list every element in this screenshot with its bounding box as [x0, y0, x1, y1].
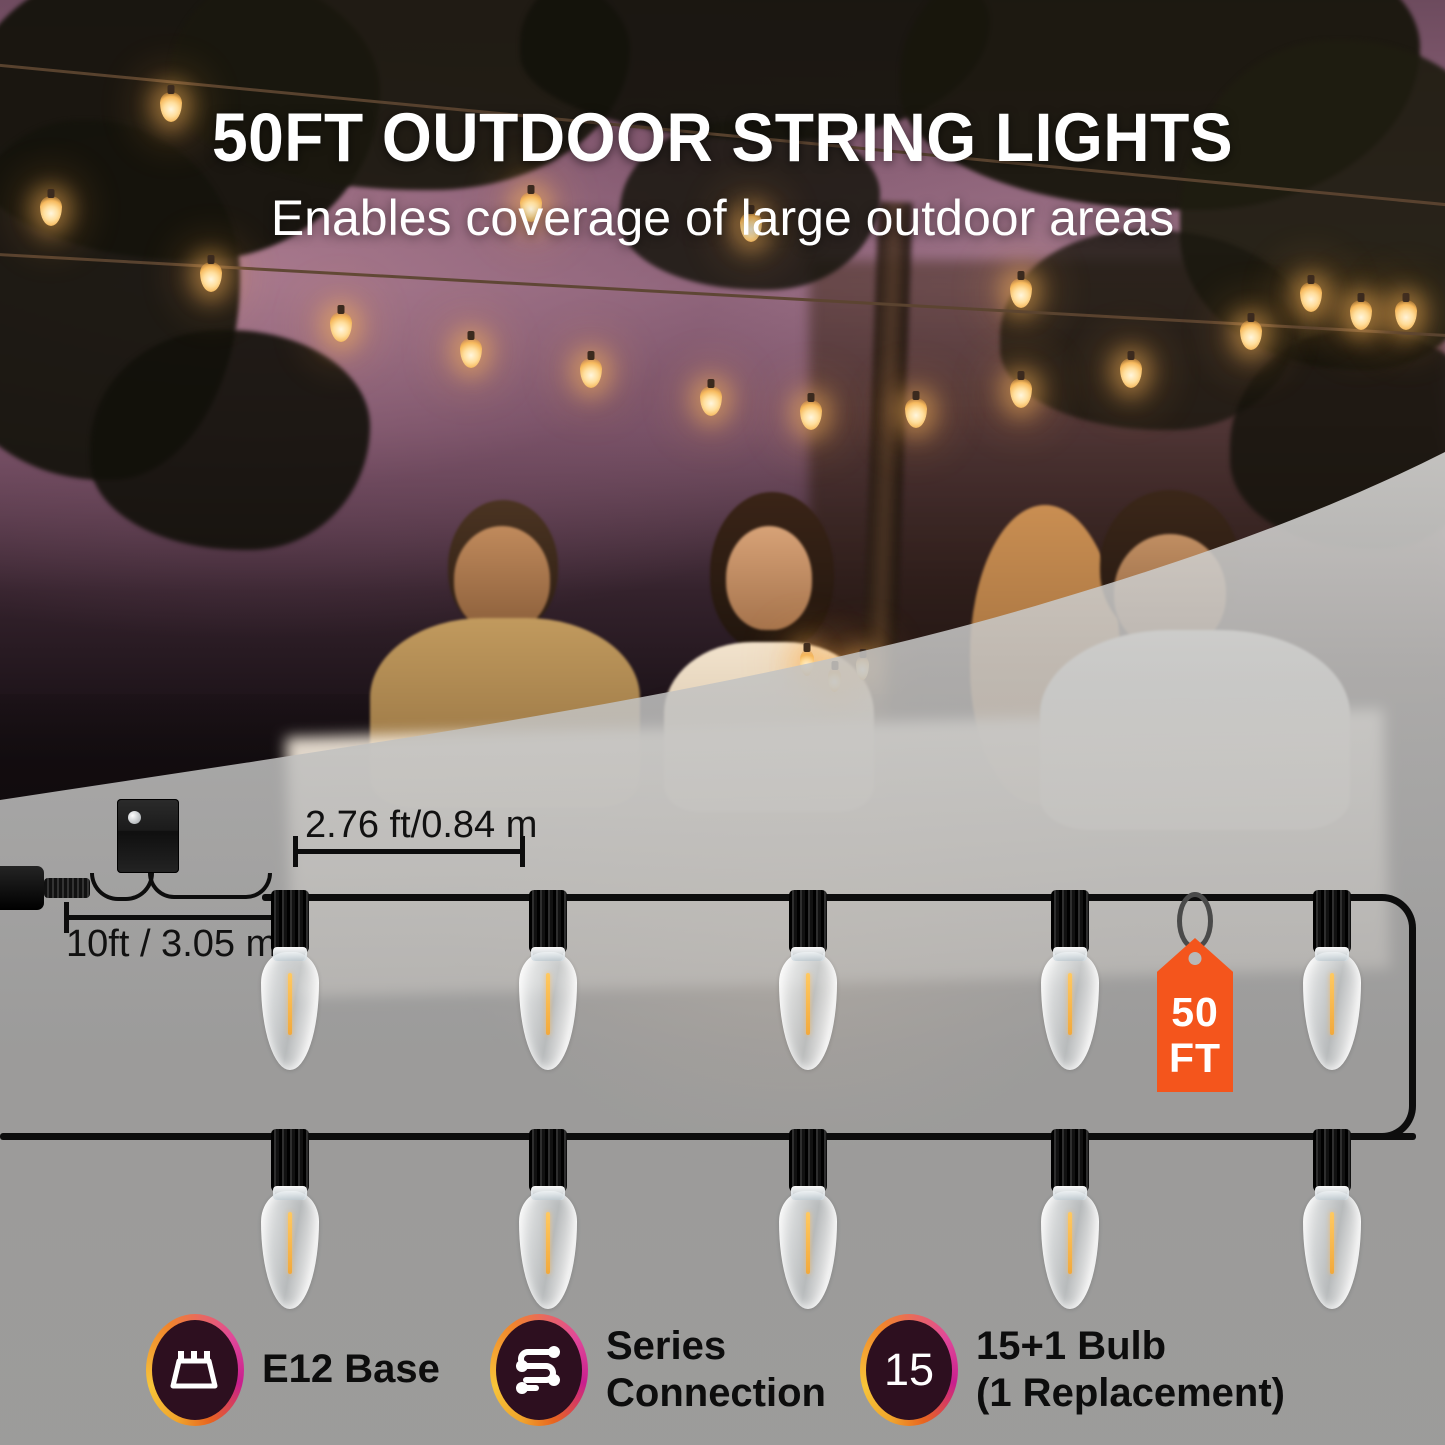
badge-count-text: 15 — [866, 1320, 952, 1420]
filament — [1068, 1212, 1072, 1274]
badge-ring — [490, 1314, 588, 1426]
st38-filament-bulb — [1041, 952, 1099, 1070]
product-infographic: 50FT OUTDOOR STRING LIGHTS Enables cover… — [0, 0, 1445, 1445]
lamp-top-4 — [1041, 890, 1099, 1070]
badge-ring: 15 — [860, 1314, 958, 1426]
e12-socket — [1313, 890, 1351, 954]
e12-socket — [789, 1129, 827, 1193]
tag-line-2: FT — [1157, 1036, 1233, 1082]
wire-uturn-right — [1378, 894, 1416, 1140]
filament — [1068, 973, 1072, 1035]
feature-label: E12 Base — [262, 1346, 440, 1393]
lead-cable-left — [90, 873, 154, 901]
filament — [1330, 973, 1334, 1035]
feature-e12-base[interactable]: E12 Base — [146, 1314, 440, 1426]
badge-inner — [152, 1320, 238, 1420]
power-plug — [0, 866, 44, 910]
feature-label: Series Connection — [606, 1323, 826, 1417]
page-subtitle: Enables coverage of large outdoor areas — [0, 192, 1445, 245]
e12-socket — [1051, 890, 1089, 954]
badge-inner — [496, 1320, 582, 1420]
tag-line-1: 50 — [1157, 990, 1233, 1036]
st38-filament-bulb — [1041, 1191, 1099, 1309]
feature-label: 15+1 Bulb (1 Replacement) — [976, 1323, 1285, 1417]
lamp-bottom-1 — [261, 1129, 319, 1309]
feature-badges: E12 Base Series Connection — [0, 1300, 1445, 1445]
series-circuit-icon — [512, 1344, 566, 1396]
e12-socket — [271, 1129, 309, 1193]
filament — [546, 973, 550, 1035]
lamp-bottom-4 — [1041, 1129, 1099, 1309]
e12-socket — [529, 1129, 567, 1193]
lamp-base-icon — [168, 1350, 222, 1390]
controller-box — [117, 799, 179, 873]
st38-filament-bulb — [1303, 1191, 1361, 1309]
st38-filament-bulb — [1303, 952, 1361, 1070]
filament — [806, 1212, 810, 1274]
lamp-bottom-2 — [519, 1129, 577, 1309]
feature-series-connection[interactable]: Series Connection — [490, 1314, 826, 1426]
e12-socket — [1051, 1129, 1089, 1193]
filament — [288, 1212, 292, 1274]
badge-ring — [146, 1314, 244, 1426]
lamp-bottom-5 — [1303, 1129, 1361, 1309]
feature-bulb-count[interactable]: 15 15+1 Bulb (1 Replacement) — [860, 1314, 1285, 1426]
st38-filament-bulb — [779, 952, 837, 1070]
e12-socket — [529, 890, 567, 954]
dimension-bulb-spacing — [293, 849, 525, 854]
lamp-top-1 — [261, 890, 319, 1070]
st38-filament-bulb — [519, 1191, 577, 1309]
lamp-bottom-3 — [779, 1129, 837, 1309]
e12-socket — [789, 890, 827, 954]
dimension-lead-length-label: 10ft / 3.05 m — [66, 923, 277, 966]
waterproof-connector — [44, 878, 90, 898]
string-light-diagram: 2.76 ft/0.84 m 10ft / 3.05 m — [0, 780, 1445, 1300]
filament — [806, 973, 810, 1035]
tag-hole — [1189, 952, 1202, 965]
e12-socket — [271, 890, 309, 954]
dimension-lead-length — [64, 915, 280, 920]
hang-tag: 50 FT — [1125, 892, 1265, 1102]
st38-filament-bulb — [519, 952, 577, 1070]
lamp-top-5 — [1303, 890, 1361, 1070]
wire-bottom-row — [0, 1133, 1416, 1140]
page-title: 50FT OUTDOOR STRING LIGHTS — [51, 103, 1395, 172]
filament — [288, 973, 292, 1035]
st38-filament-bulb — [261, 1191, 319, 1309]
lamp-top-2 — [519, 890, 577, 1070]
st38-filament-bulb — [779, 1191, 837, 1309]
filament — [1330, 1212, 1334, 1274]
lead-cable-right — [148, 873, 272, 899]
st38-filament-bulb — [261, 952, 319, 1070]
lamp-top-3 — [779, 890, 837, 1070]
filament — [546, 1212, 550, 1274]
dimension-bulb-spacing-label: 2.76 ft/0.84 m — [305, 804, 537, 847]
e12-socket — [1313, 1129, 1351, 1193]
